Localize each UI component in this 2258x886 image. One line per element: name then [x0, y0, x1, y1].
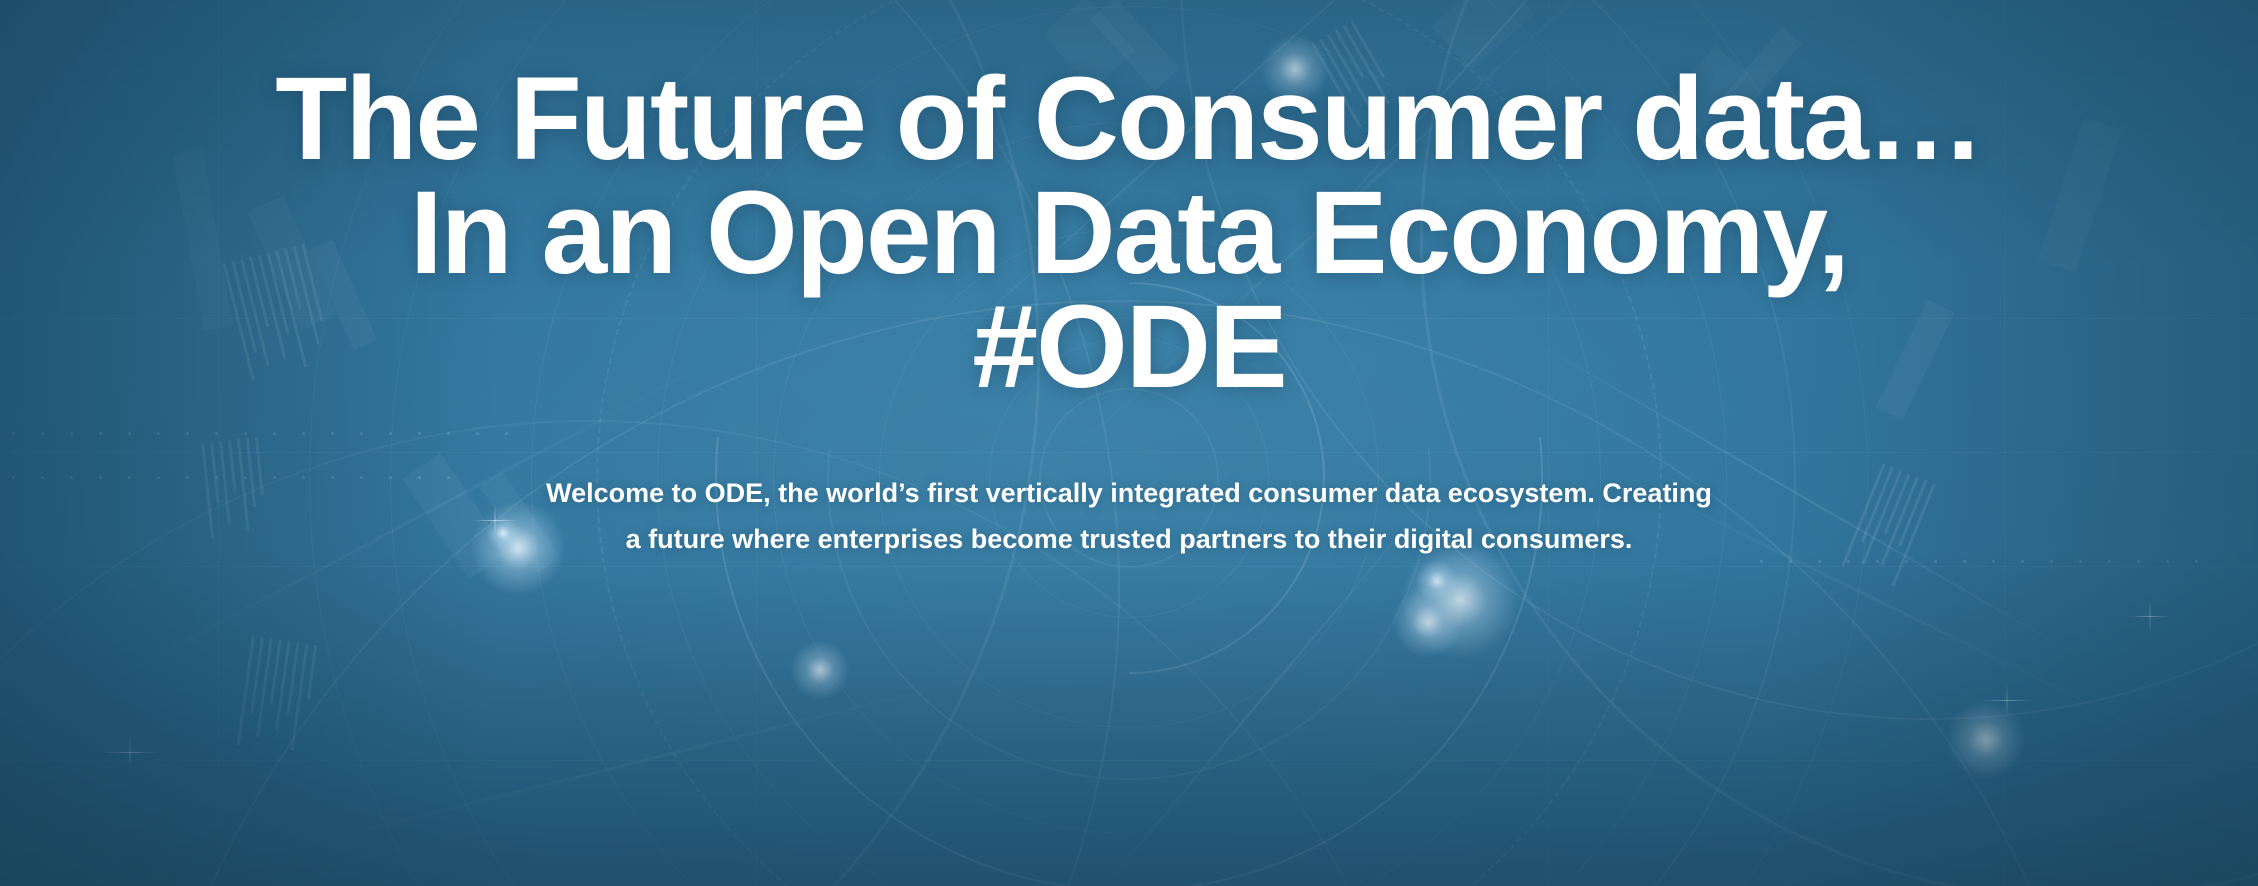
hero-banner: The Future of Consumer data… In an Open … [0, 0, 2258, 886]
headline-line-2: In an Open Data Economy, [275, 176, 1983, 290]
headline-line-1: The Future of Consumer data… [275, 62, 1983, 176]
page-title: The Future of Consumer data… In an Open … [275, 62, 1983, 404]
hero-subtitle: Welcome to ODE, the world’s first vertic… [539, 470, 1719, 562]
hero-content: The Future of Consumer data… In an Open … [0, 0, 2258, 886]
headline-line-3: #ODE [275, 290, 1983, 404]
